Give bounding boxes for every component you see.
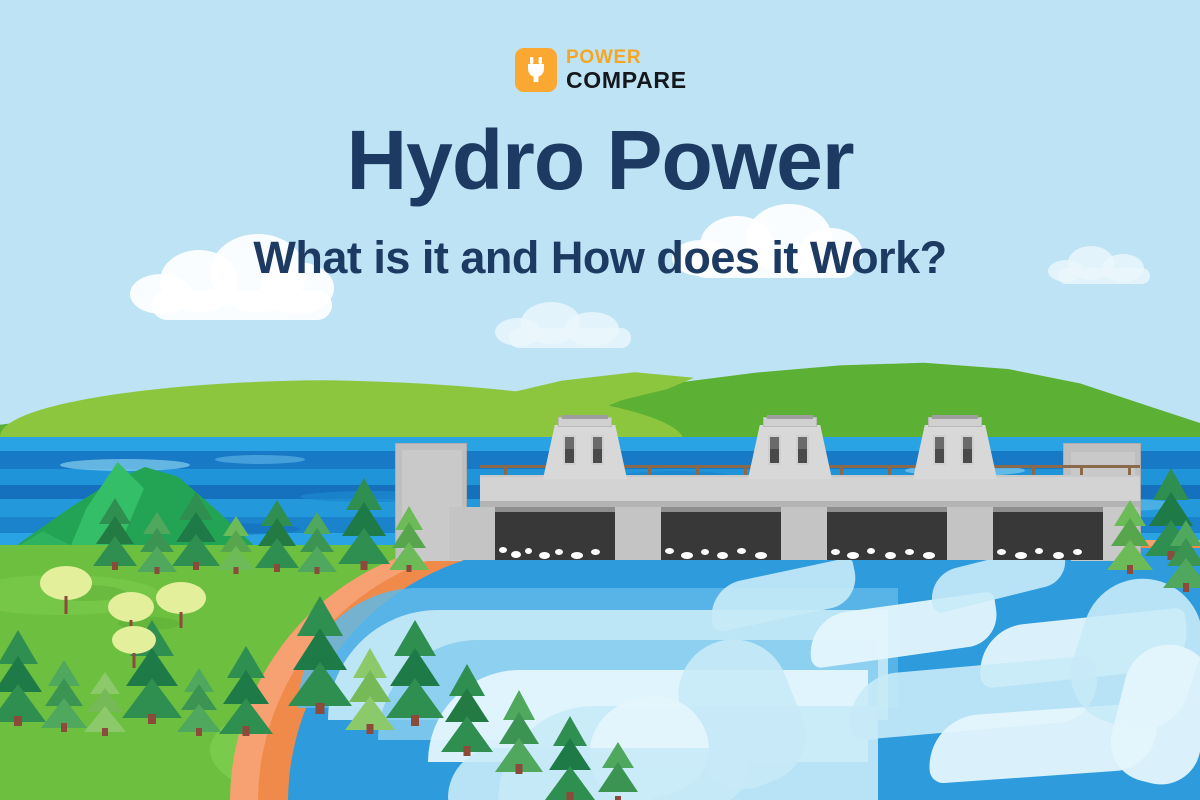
- hero-illustration: POWER COMPARE Hydro Power What is it and…: [0, 0, 1200, 800]
- dam-pier: [449, 507, 495, 560]
- landscape-scene: [0, 0, 1200, 800]
- spillway-gate: [993, 507, 1103, 560]
- dam-pier: [947, 507, 993, 560]
- hydroelectric-dam: [395, 415, 1155, 560]
- dam-pier: [781, 507, 827, 560]
- dam-deck: [480, 477, 1140, 503]
- dam-pier: [615, 507, 661, 560]
